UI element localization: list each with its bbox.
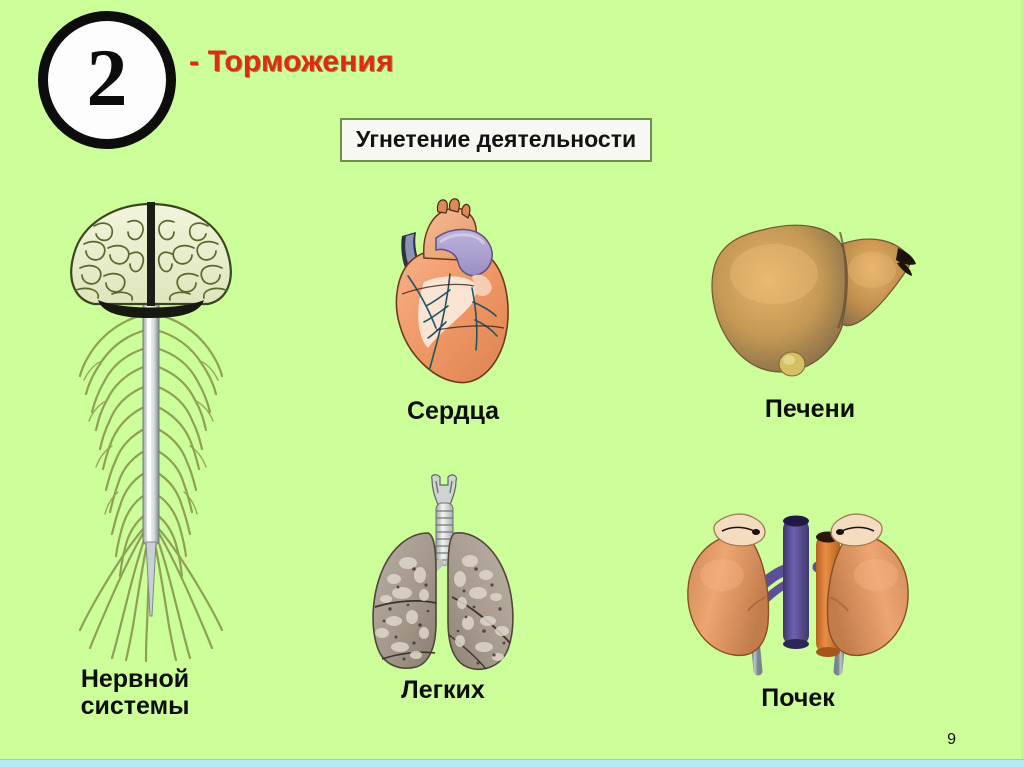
subtitle-text: Угнетение деятельности (356, 126, 636, 152)
heart-anatomical-icon (378, 198, 528, 388)
bottom-accent-strip (0, 759, 1024, 767)
organ-label-kidneys: Почек (688, 685, 908, 712)
brain-spinal-cord-icon (42, 196, 262, 666)
organ-label-lungs: Легких (333, 677, 553, 704)
figure-nervous-system: Нервной системы (42, 196, 262, 666)
organ-label-nervous-system: Нервной системы (42, 666, 228, 720)
page-title: - Торможения (189, 45, 394, 79)
slide-canvas: 2 - Торможения Угнетение деятельности (0, 0, 1024, 767)
organ-label-liver: Печени (700, 396, 920, 423)
step-number-text: 2 (87, 37, 128, 119)
organ-label-heart: Сердца (343, 398, 563, 425)
lungs-icon (348, 475, 538, 675)
figure-heart: Сердца (378, 198, 528, 388)
figure-kidneys: Почек (678, 505, 918, 675)
step-number-badge: 2 (38, 11, 176, 149)
figure-lungs: Легких (348, 475, 538, 675)
subtitle-box: Угнетение деятельности (340, 118, 652, 162)
page-number: 9 (947, 731, 956, 749)
figure-liver: Печени (700, 218, 920, 378)
liver-icon (700, 218, 920, 378)
kidneys-icon (678, 505, 918, 675)
